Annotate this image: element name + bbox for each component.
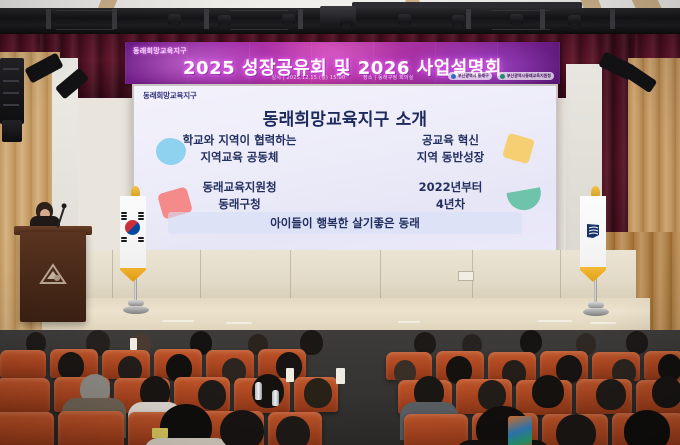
auditorium-seat <box>0 412 54 445</box>
truss-node <box>204 9 209 29</box>
truss-node <box>466 9 471 29</box>
attendee-head <box>596 379 626 410</box>
attendee-shoulders <box>456 440 550 445</box>
org-chip-label: 부산광역시동래교육지원청 <box>507 73 551 79</box>
truss-brace <box>56 10 114 30</box>
attendee-head <box>626 331 648 354</box>
institution-emblem-icon <box>584 222 602 240</box>
slide-cell-line1: 학교와 지역이 협력하는 <box>183 133 297 147</box>
slide-cell-line1: 동래교육지원청 <box>202 180 276 194</box>
flag-base <box>588 302 604 308</box>
attendee-head <box>276 416 310 445</box>
flag-base <box>128 300 144 306</box>
institution-flag <box>580 196 606 282</box>
stage-spotlight-icon <box>218 15 231 26</box>
org-chip: 부산광역시동래교육지원청 <box>497 72 554 80</box>
slide-footer-band: 아이들이 행복한 살기좋은 동래 <box>168 212 522 234</box>
podium-emblem-icon <box>38 262 68 286</box>
attendee-head <box>624 410 670 445</box>
banner-date: 일시 | 2025.12.15.(월) 15:00 <box>271 75 345 81</box>
truss-node <box>610 9 615 29</box>
attendee-head <box>556 355 582 383</box>
slide-cell: 학교와 지역이 협력하는 지역교육 공동체 <box>134 132 345 165</box>
slide-cell: 동래교육지원청 동래구청 <box>134 179 345 212</box>
taeguk-icon <box>125 220 140 235</box>
stage-spotlight-icon <box>168 14 181 25</box>
line-array-speaker <box>0 58 24 124</box>
attendee-head <box>520 330 542 354</box>
slide-logo: 동래희망교육지구 <box>143 90 197 101</box>
attendee-head <box>58 352 84 380</box>
attendee-head <box>652 376 680 408</box>
slide-cell-line1: 2022년부터 <box>419 180 483 194</box>
truss-brace <box>230 10 288 30</box>
org-chip-label: 부산광역시 동래구 <box>458 73 489 79</box>
flag-base <box>583 308 609 316</box>
truss-node <box>298 9 303 29</box>
banner-place: 장소 | 동래구청 회의실 <box>363 75 413 81</box>
slide-cell: 공교육 혁신 지역 동반성장 <box>345 132 556 165</box>
slide-footer-text: 아이들이 행복한 살기좋은 동래 <box>270 215 420 231</box>
flag-base <box>123 306 149 314</box>
korea-national-flag <box>120 196 146 282</box>
projection-screen: 동래희망교육지구 동래희망교육지구 소개 학교와 지역이 협력하는 지역교육 공… <box>134 86 556 254</box>
slide-title: 동래희망교육지구 소개 <box>134 105 556 130</box>
attendee-head <box>556 414 596 445</box>
patterned-bag <box>508 416 532 445</box>
slide-cell: 2022년부터 4년차 <box>345 179 556 212</box>
stage-spotlight-icon <box>568 15 581 26</box>
water-bottle <box>272 390 279 406</box>
handout-paper <box>336 368 345 384</box>
podium <box>20 232 86 322</box>
stage-back-wall <box>60 250 636 300</box>
wall-vent <box>458 271 474 281</box>
attendee-head <box>304 378 332 408</box>
stage-spotlight-icon <box>282 14 295 25</box>
event-banner: 동래희망교육지구 2025 성장공유회 및 2026 사업설명회 일시 | 20… <box>125 42 560 84</box>
slide-cell-line2: 지역교육 공동체 <box>134 149 345 166</box>
slide-cell-line2: 4년차 <box>345 196 556 213</box>
truss-node <box>46 9 51 29</box>
stage-spotlight-icon <box>510 14 523 25</box>
projection-screen-frame: 동래희망교육지구 동래희망교육지구 소개 학교와 지역이 협력하는 지역교육 공… <box>132 84 558 256</box>
stage-spotlight-icon <box>340 15 353 26</box>
slide-cell-line2: 지역 동반성장 <box>345 149 556 166</box>
attendee-head <box>220 410 264 445</box>
slide-cell-line1: 공교육 혁신 <box>422 133 479 147</box>
auditorium-seat <box>58 411 124 445</box>
auditorium-seat <box>0 378 50 412</box>
handout-paper <box>130 338 137 350</box>
line-array-speaker <box>2 120 22 142</box>
handout-paper <box>286 368 294 382</box>
banner-org-logos: 부산광역시 동래구 부산광역시동래교육지원청 <box>448 72 554 80</box>
audience-area <box>0 330 680 445</box>
stage-spotlight-icon <box>398 14 411 25</box>
attendee-head <box>198 380 226 410</box>
handout-paper <box>152 428 168 438</box>
org-chip: 부산광역시 동래구 <box>448 72 492 80</box>
screenshot-root: 동래희망교육지구 2025 성장공유회 및 2026 사업설명회 일시 | 20… <box>0 0 680 445</box>
attendee-shoulders <box>144 438 230 445</box>
auditorium-seat <box>404 414 468 445</box>
slide-cell-line2: 동래구청 <box>134 196 345 213</box>
water-bottle <box>255 382 262 400</box>
auditorium-seat <box>0 350 46 378</box>
attendee-head <box>532 375 564 408</box>
stage-spotlight-icon <box>452 15 465 26</box>
